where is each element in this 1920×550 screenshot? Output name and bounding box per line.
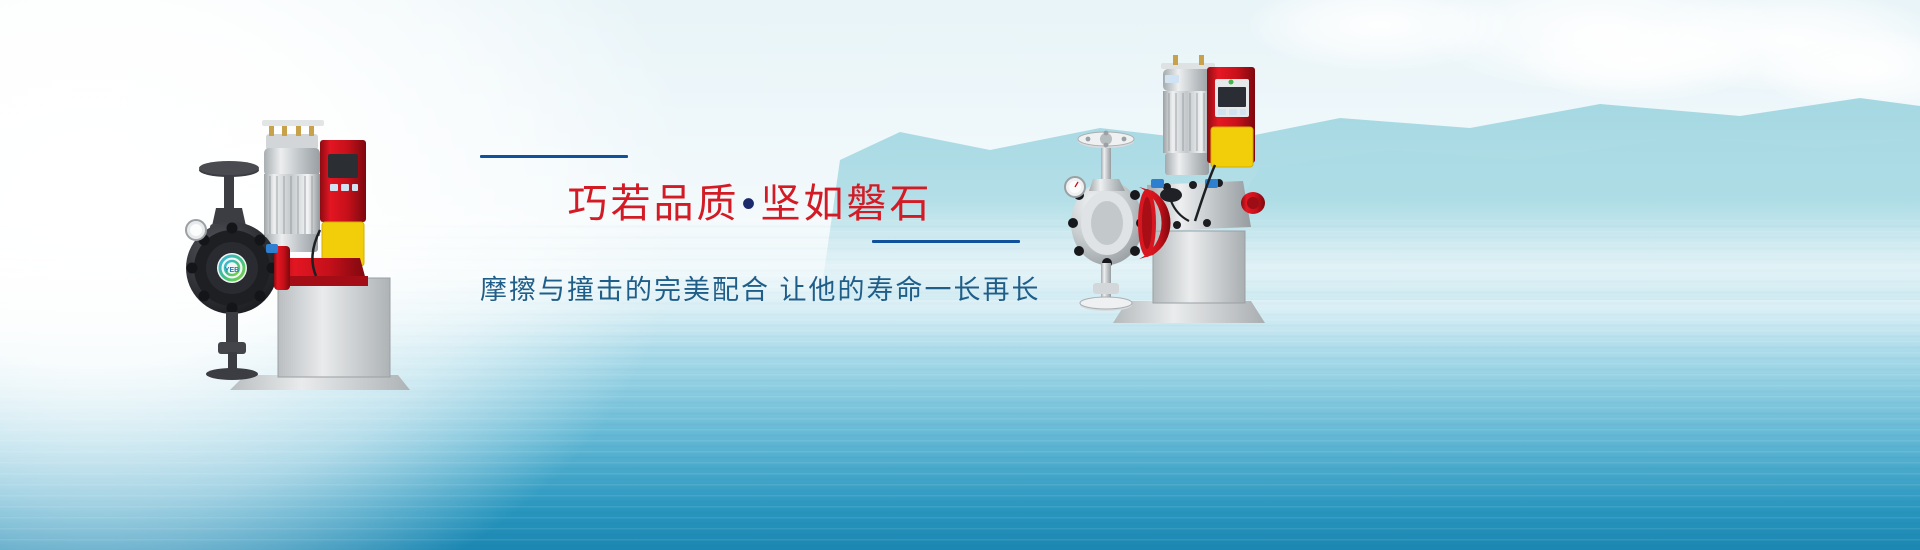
- page-headline: 巧若品质•坚如磐石: [480, 184, 1020, 224]
- motor-cap: [266, 134, 318, 150]
- control-display: [1218, 87, 1246, 107]
- page-subheadline: 摩擦与撞击的完美配合 让他的寿命一长再长: [480, 277, 1020, 304]
- control-box: [320, 140, 366, 222]
- control-display: [328, 154, 358, 178]
- hero-copy-block: 巧若品质•坚如磐石 摩擦与撞击的完美配合 让他的寿命一长再长: [480, 155, 1020, 304]
- hero-banner: YEB: [0, 0, 1920, 550]
- headline-rule-top: [480, 155, 628, 158]
- pump-pedestal: [278, 278, 390, 377]
- motor-top-housing: [264, 148, 320, 176]
- headline-rule-bottom: [872, 240, 1020, 243]
- pump-base-plate: [1113, 301, 1265, 323]
- pump-logo-text: YEB: [225, 267, 239, 274]
- headline-part-2: 坚如磐石: [761, 182, 933, 226]
- blue-fitting: [266, 244, 278, 253]
- product-image-metering-pump-right: [1055, 35, 1275, 345]
- sensor-body: [1160, 188, 1182, 202]
- blue-fitting: [1151, 179, 1164, 188]
- pump-pedestal: [1153, 231, 1245, 303]
- product-image-metering-pump-left: YEB: [170, 80, 420, 400]
- headline-part-1: 巧若品质: [567, 182, 739, 226]
- headline-separator-dot: •: [739, 182, 760, 226]
- control-panel-yellow: [1211, 127, 1253, 167]
- bottom-flange: [206, 368, 258, 380]
- motor-label: [1165, 75, 1179, 83]
